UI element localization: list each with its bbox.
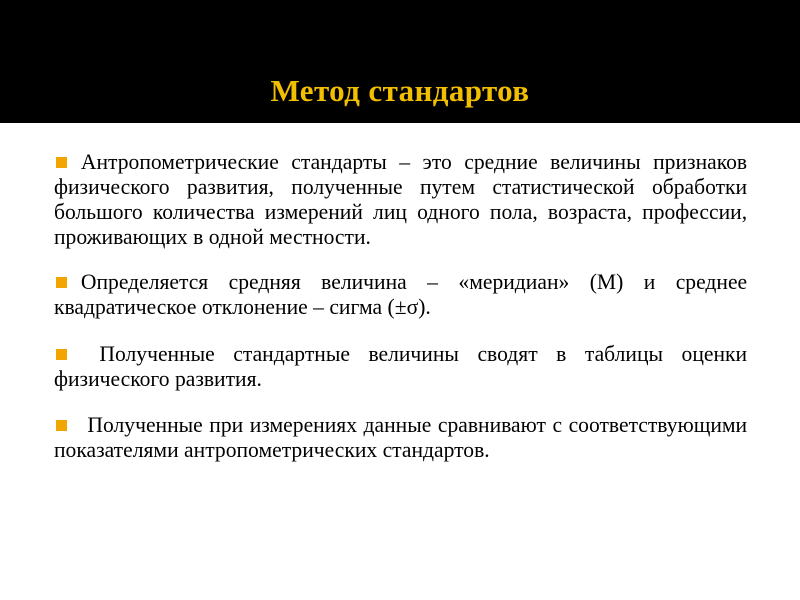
list-item: Полученные при измерениях данные сравнив… xyxy=(50,412,776,462)
bullet-list: Антропометрические стандарты – это средн… xyxy=(50,149,776,462)
list-item-text: Полученные стандартные величины сводят в… xyxy=(54,341,747,391)
list-item-text: Полученные при измерениях данные сравнив… xyxy=(54,412,747,462)
list-item-text: Определяется средняя величина – «меридиа… xyxy=(54,269,747,319)
slide-body: Антропометрические стандарты – это средн… xyxy=(0,123,800,600)
list-item: Определяется средняя величина – «меридиа… xyxy=(50,269,776,319)
list-item-text: Антропометрические стандарты – это средн… xyxy=(54,149,747,249)
list-item: Полученные стандартные величины сводят в… xyxy=(50,341,776,391)
list-item: Антропометрические стандарты – это средн… xyxy=(50,149,776,249)
presentation-slide: Метод стандартов Антропометрические стан… xyxy=(0,0,800,600)
